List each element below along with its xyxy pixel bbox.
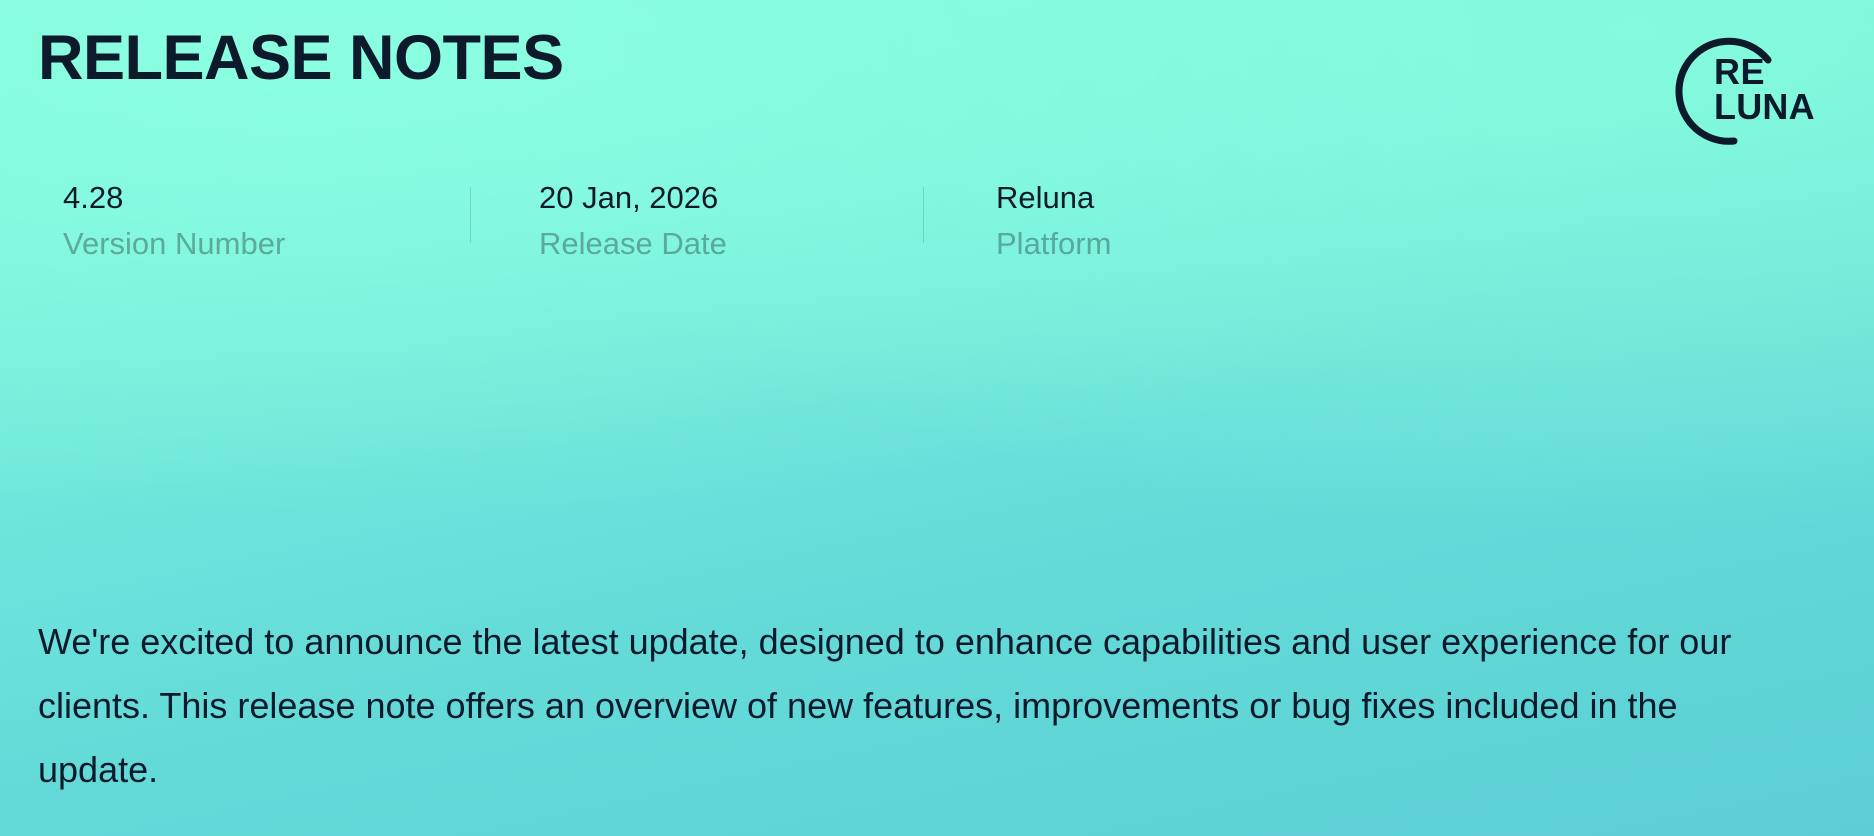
- reluna-logo: RE LUNA: [1662, 28, 1830, 150]
- meta-item-platform: Reluna Platform: [924, 178, 1244, 252]
- meta-value-release-date-wrap: 20 Jan, 2026: [539, 178, 923, 218]
- logo-text-luna: LUNA: [1714, 89, 1815, 124]
- meta-item-version: 4.28 Version Number: [38, 178, 470, 252]
- intro-paragraph: We're excited to announce the latest upd…: [38, 610, 1778, 802]
- meta-label-version: Version Number: [63, 224, 470, 264]
- release-notes-banner: RELEASE NOTES RE LUNA 4.28 Version Numbe…: [0, 0, 1874, 836]
- meta-value-version: 4.28: [63, 178, 470, 218]
- meta-label-platform: Platform: [996, 224, 1244, 264]
- release-meta-row: 4.28 Version Number 20 Jan, 2026 Release…: [38, 178, 1244, 252]
- meta-item-release-date: 20 Jan, 2026 Release Date: [471, 178, 923, 252]
- page-title: RELEASE NOTES: [38, 27, 564, 90]
- meta-value-release-date: 20 Jan, 2026: [539, 178, 718, 218]
- logo-text-re: RE: [1714, 54, 1815, 89]
- meta-label-release-date: Release Date: [539, 224, 923, 264]
- meta-value-platform: Reluna: [996, 178, 1244, 218]
- logo-wordmark: RE LUNA: [1714, 54, 1815, 125]
